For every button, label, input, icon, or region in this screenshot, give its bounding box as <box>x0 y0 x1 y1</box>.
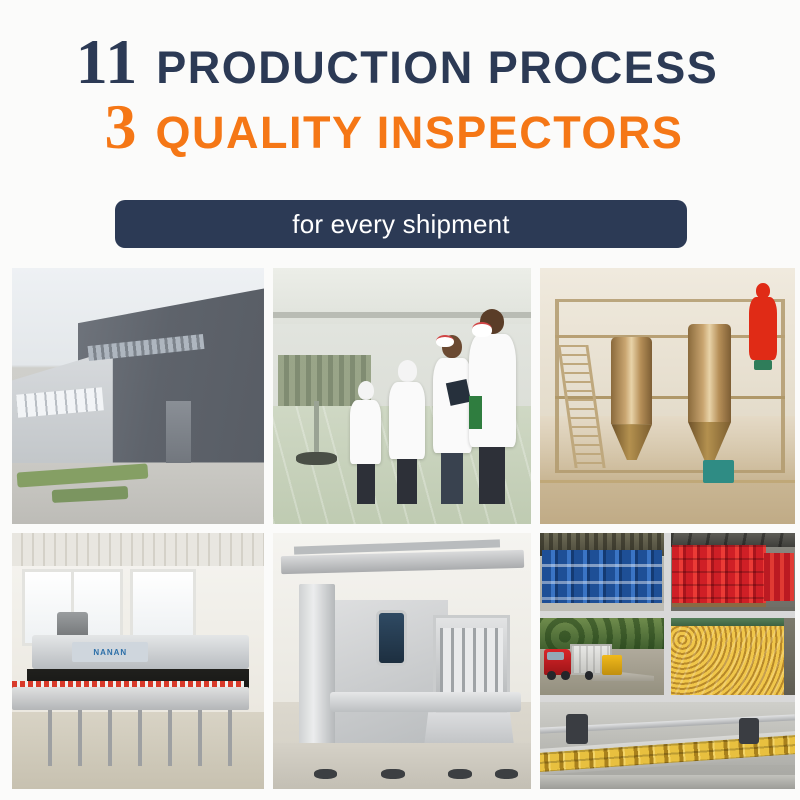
photo-refinery-tanks <box>540 268 795 524</box>
photo-pasteurizer-line: NANAN <box>12 533 264 789</box>
photo-golden-cans-bulk <box>671 618 795 696</box>
headline-text-processes: PRODUCTION PROCESS <box>156 45 718 90</box>
photo-factory-exterior <box>12 268 264 524</box>
conveyor-gold-cans-image <box>540 702 795 789</box>
headline-block: 11 PRODUCTION PROCESS 3 QUALITY INSPECTO… <box>0 0 800 190</box>
red-crates-image <box>671 533 795 611</box>
machine-brand-label: NANAN <box>72 642 148 662</box>
photo-conveyor-gold-cans <box>540 702 795 789</box>
photo-truck-loading <box>540 618 664 696</box>
photo-quality-inspectors <box>273 268 531 524</box>
quality-inspectors-image <box>273 268 531 524</box>
truck-loading-image <box>540 618 664 696</box>
factory-exterior-image <box>12 268 264 524</box>
worker-red-coverall <box>749 283 777 370</box>
headline-line-1: 11 PRODUCTION PROCESS <box>0 32 797 93</box>
pasteurizer-line-image: NANAN <box>12 533 264 789</box>
photo-red-crates-warehouse <box>671 533 795 611</box>
sub-banner: for every shipment <box>115 200 687 248</box>
golden-cans-bulk-image <box>671 618 795 696</box>
headline-line-2: 3 QUALITY INSPECTORS <box>0 97 794 158</box>
photo-filling-machine <box>273 533 531 789</box>
shipping-subgrid <box>540 533 795 789</box>
photo-gallery-grid: NANAN <box>12 268 788 788</box>
headline-number-processes: 11 <box>76 32 138 93</box>
blue-drums-image <box>540 533 664 611</box>
photo-collage-shipping <box>540 533 795 789</box>
headline-text-inspectors: QUALITY INSPECTORS <box>156 110 684 155</box>
photo-blue-drums-storage <box>540 533 664 611</box>
filling-machine-image <box>273 533 531 789</box>
headline-number-inspectors: 3 <box>105 97 138 158</box>
sub-banner-text: for every shipment <box>292 209 509 240</box>
refinery-tanks-image <box>540 268 795 524</box>
